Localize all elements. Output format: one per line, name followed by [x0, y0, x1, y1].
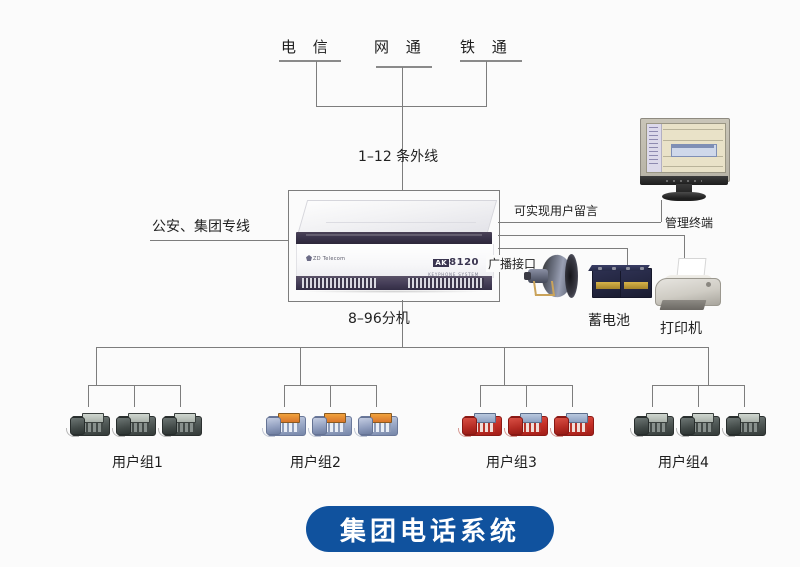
extension-count-label: 8–96分机 [348, 308, 410, 328]
pbx-device: ZD Telecom AK8120 KEYPHONE SYSTEM [296, 200, 492, 294]
monitor-screen-row-1 [663, 129, 723, 130]
user-group-3-label: 用户组3 [486, 452, 537, 472]
pbx-band-highlight [306, 234, 482, 236]
system-title-banner: 集团电话系统 [306, 506, 554, 552]
pbx-model-block: AK8120 KEYPHONE SYSTEM [428, 252, 479, 277]
group-2-phone-2 [312, 410, 352, 436]
dedicated-line-connector [150, 240, 288, 241]
phone-keypad [739, 423, 759, 432]
phone-keypad [521, 423, 541, 432]
phone-handset [462, 417, 477, 435]
phone-display [692, 413, 714, 423]
phone-handset [634, 417, 649, 435]
phone-display [370, 413, 392, 423]
group-1-phone-2-drop [134, 385, 135, 407]
carrier-underline-telecom [279, 60, 341, 62]
monitor-control-buttons [666, 180, 702, 182]
group-1-drop [96, 347, 97, 385]
group-1-phone-3 [162, 410, 202, 436]
phone-display [474, 413, 496, 423]
extension-main-bus [96, 347, 709, 348]
printer-device [655, 258, 721, 312]
group-1-phone-3-drop [180, 385, 181, 407]
group-2-phone-3 [358, 410, 398, 436]
system-title-text: 集团电话系统 [340, 511, 520, 548]
battery-label: 蓄电池 [588, 310, 630, 330]
phone-handset [116, 417, 131, 435]
pbx-model-prefix: AK [433, 259, 449, 267]
diagram-canvas: 电 信 网 通 铁 通 1–12 条外线 ZD Telecom AK8120 K… [0, 0, 800, 567]
phone-handset [508, 417, 523, 435]
battery-label-strip-2 [624, 282, 648, 289]
phone-handset [312, 417, 327, 435]
phone-handset [266, 417, 281, 435]
group-4-phone-2 [680, 410, 720, 436]
battery-unit-2 [620, 268, 652, 298]
monitor-screen-row-2 [663, 140, 723, 141]
phone-handset [726, 417, 741, 435]
group-2-phone-2-drop [330, 385, 331, 407]
pbx-shadow [300, 290, 488, 293]
group-3-phone-3-drop [572, 385, 573, 407]
phone-keypad [129, 423, 149, 432]
group-4-phone-3-drop [744, 385, 745, 407]
carrier-label-railcom: 铁 通 [460, 36, 513, 57]
group-2-phone-3-drop [376, 385, 377, 407]
battery-label-strip-1 [596, 282, 620, 289]
group-3-drop [504, 347, 505, 385]
phone-display [646, 413, 668, 423]
pbx-brand-text: ZD Telecom [313, 256, 345, 262]
phone-keypad [647, 423, 667, 432]
battery-post-2a [626, 267, 630, 270]
management-terminal-label: 管理终端 [665, 214, 713, 231]
monitor-stand-base [662, 192, 706, 201]
carrier-drop-telecom [316, 61, 317, 106]
horn-rear-knob [524, 272, 531, 280]
phone-display [174, 413, 196, 423]
battery-post-1a [598, 267, 602, 270]
battery-post-1b [612, 267, 616, 270]
phone-handset [554, 417, 569, 435]
printer-label: 打印机 [660, 318, 702, 338]
group-3-phone-1 [462, 410, 502, 436]
monitor-screen [646, 123, 726, 173]
phone-handset [358, 417, 373, 435]
phone-display [566, 413, 588, 423]
carrier-drop-unicom [402, 67, 403, 106]
phone-handset [162, 417, 177, 435]
line-pbx-to-terminal [498, 222, 661, 223]
group-3-phone-1-drop [480, 385, 481, 407]
line-pbx-to-printer [498, 235, 684, 236]
group-2-phone-1 [266, 410, 306, 436]
management-terminal-monitor [640, 118, 728, 202]
dedicated-line-label: 公安、集团专线 [152, 216, 250, 236]
phone-keypad [475, 423, 495, 432]
phone-keypad [175, 423, 195, 432]
user-group-4-label: 用户组4 [658, 452, 709, 472]
pbx-vent-left [302, 278, 376, 288]
group-4-phone-2-drop [698, 385, 699, 407]
monitor-screen-dialog-titlebar [672, 145, 714, 148]
phone-display [82, 413, 104, 423]
group-4-phone-1-drop [652, 385, 653, 407]
monitor-screen-row-4 [663, 166, 723, 167]
horn-mount-bracket [533, 281, 555, 296]
printer-power-button [706, 282, 711, 287]
pbx-top-seam [326, 222, 476, 223]
group-1-phone-1 [70, 410, 110, 436]
printer-output-tray [660, 300, 707, 310]
broadcast-horn-speaker [524, 255, 582, 301]
phone-keypad [83, 423, 103, 432]
pbx-front-face: ZD Telecom AK8120 KEYPHONE SYSTEM [296, 244, 494, 278]
trunk-count-label: 1–12 条外线 [358, 146, 438, 166]
pbx-model-number: 8120 [449, 257, 479, 268]
phone-keypad [325, 423, 345, 432]
pbx-vent-right [408, 278, 484, 288]
phone-handset [680, 417, 695, 435]
battery-lid-2 [616, 265, 650, 271]
battery-bank [592, 268, 660, 300]
group-1-phone-2 [116, 410, 156, 436]
group-2-phone-1-drop [284, 385, 285, 407]
group-4-drop [708, 347, 709, 385]
phone-keypad [371, 423, 391, 432]
user-group-2-label: 用户组2 [290, 452, 341, 472]
group-4-phone-3 [726, 410, 766, 436]
pbx-top-panel [297, 200, 497, 236]
carrier-label-telecom: 电 信 [281, 36, 334, 57]
monitor-bezel [640, 118, 730, 182]
horn-mouth [565, 254, 578, 298]
phone-display [520, 413, 542, 423]
line-pbx-to-battery [498, 248, 627, 249]
group-2-drop [300, 347, 301, 385]
phone-keypad [567, 423, 587, 432]
user-group-1-label: 用户组1 [112, 452, 163, 472]
phone-display [128, 413, 150, 423]
voicemail-note-label: 可实现用户留言 [514, 202, 598, 219]
monitor-screen-sidebar-rows [649, 127, 658, 167]
group-3-phone-2 [508, 410, 548, 436]
pbx-brand-mark-icon [306, 255, 312, 261]
phone-keypad [279, 423, 299, 432]
phone-handset [70, 417, 85, 435]
line-terminal-riser [661, 200, 662, 222]
group-3-phone-3 [554, 410, 594, 436]
carrier-drop-railcom [486, 61, 487, 106]
battery-post-2b [640, 267, 644, 270]
phone-keypad [693, 423, 713, 432]
phone-display [324, 413, 346, 423]
phone-display [738, 413, 760, 423]
phone-display [278, 413, 300, 423]
group-3-phone-2-drop [526, 385, 527, 407]
carrier-underline-unicom [376, 66, 432, 68]
group-1-phone-1-drop [88, 385, 89, 407]
group-4-phone-1 [634, 410, 674, 436]
carrier-underline-railcom [460, 60, 522, 62]
carrier-label-unicom: 网 通 [374, 36, 427, 57]
